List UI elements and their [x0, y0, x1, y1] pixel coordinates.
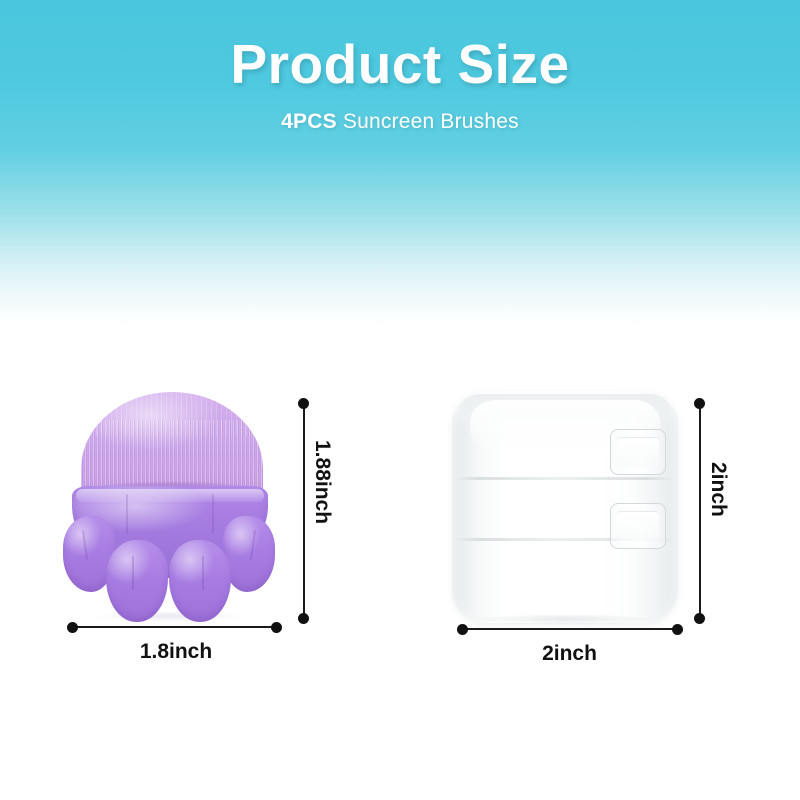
- paw-toe-inner-left: [106, 540, 168, 622]
- toe-crease-inner-left: [132, 556, 134, 590]
- case-contact-shadow: [470, 615, 660, 625]
- brush-height-line: [303, 403, 305, 617]
- pad-seam-right: [212, 494, 214, 534]
- case-height-dot-top: [694, 398, 705, 409]
- page-subtitle: 4PCS Suncreen Brushes: [0, 110, 800, 134]
- case-height-dot-bottom: [694, 613, 705, 624]
- case-latch-bottom-inner: [617, 511, 659, 541]
- case-width-label: 2inch: [462, 642, 677, 666]
- case-latch-bottom: [610, 503, 666, 549]
- brush-width-label: 1.8inch: [74, 640, 278, 664]
- paw-toe-inner-right: [169, 540, 231, 622]
- subtitle-text: Suncreen Brushes: [337, 110, 519, 133]
- brush-width-dot-left: [67, 622, 78, 633]
- case-latch-top: [610, 429, 666, 475]
- brush-height-dot-bottom: [298, 613, 309, 624]
- page-title: Product Size: [0, 36, 800, 94]
- product-image-storage-case: [452, 391, 678, 623]
- brush-height-dot-top: [298, 398, 309, 409]
- product-image-paw-brush: [62, 390, 277, 625]
- brush-contact-shadow: [94, 612, 244, 622]
- toe-crease-inner-right: [202, 556, 204, 590]
- case-latch-top-inner: [617, 437, 659, 467]
- pad-seam-left: [126, 494, 128, 534]
- case-width-line: [462, 628, 677, 630]
- header: Product Size 4PCS Suncreen Brushes: [0, 36, 800, 134]
- product-size-infographic: Product Size 4PCS Suncreen Brushes 1.88i…: [0, 0, 800, 800]
- case-width-dot-right: [672, 624, 683, 635]
- brush-width-dot-right: [271, 622, 282, 633]
- case-height-line: [699, 403, 701, 617]
- case-seam-upper: [456, 477, 674, 480]
- paw-collar-gloss: [76, 489, 264, 502]
- subtitle-count: 4PCS: [281, 110, 337, 133]
- brush-height-label: 1.88inch: [310, 440, 334, 524]
- case-width-dot-left: [457, 624, 468, 635]
- bristle-top-fuzz: [81, 392, 263, 437]
- case-height-label: 2inch: [706, 462, 730, 517]
- brush-width-line: [72, 626, 276, 628]
